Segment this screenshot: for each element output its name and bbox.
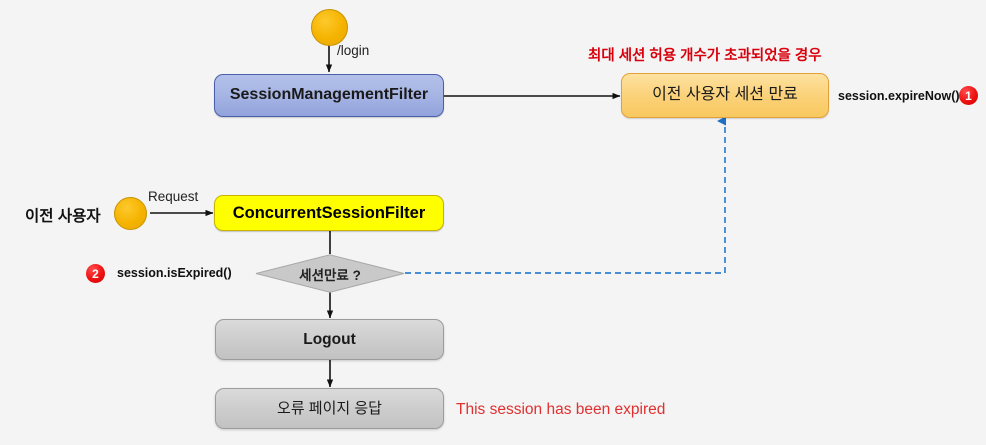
node-label: 세션만료 ? <box>255 264 405 284</box>
annotation-expired-message: This session has been expired <box>456 401 665 419</box>
node-label: Logout <box>303 331 356 349</box>
edge-expired-feedback-dashed <box>405 121 725 273</box>
node-error-page-response[interactable]: 오류 페이지 응답 <box>215 388 444 429</box>
node-logout[interactable]: Logout <box>215 319 444 360</box>
annotation-is-expired-code: session.isExpired() <box>117 266 232 280</box>
node-session-management-filter[interactable]: SessionManagementFilter <box>214 74 444 117</box>
previous-user-start-node[interactable] <box>114 197 147 230</box>
edge-label-request: Request <box>148 189 198 204</box>
node-concurrent-session-filter[interactable]: ConcurrentSessionFilter <box>214 195 444 231</box>
login-start-node[interactable] <box>311 9 348 46</box>
annotation-max-session-exceeded: 최대 세션 허용 개수가 초과되었을 경우 <box>588 44 822 65</box>
node-label: 오류 페이지 응답 <box>277 400 382 417</box>
node-label: ConcurrentSessionFilter <box>233 204 426 223</box>
annotation-expire-now-code: session.expireNow() <box>838 89 960 103</box>
badge-one: 1 <box>959 86 978 105</box>
diagram-edges <box>0 0 986 445</box>
label-previous-user: 이전 사용자 <box>25 204 101 226</box>
edge-label-login: /login <box>337 43 369 58</box>
node-label: SessionManagementFilter <box>230 86 428 104</box>
diagram-canvas: /login SessionManagementFilter 최대 세션 허용 … <box>0 0 986 445</box>
node-label: 이전 사용자 세션 만료 <box>652 86 798 104</box>
badge-two: 2 <box>86 264 105 283</box>
node-expire-previous-session[interactable]: 이전 사용자 세션 만료 <box>621 73 829 118</box>
node-session-expired-decision[interactable]: 세션만료 ? <box>255 254 405 293</box>
